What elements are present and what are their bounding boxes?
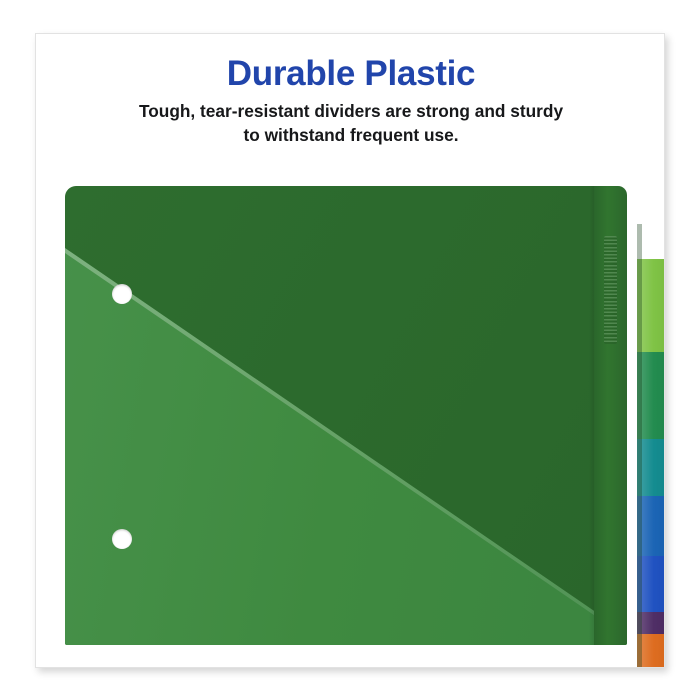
- tab-green-sheen: [637, 352, 665, 439]
- tab-light-green: [637, 259, 665, 352]
- page-title: Durable Plastic: [36, 56, 665, 93]
- tab-purple-sheen: [637, 612, 665, 634]
- tab-orange: [637, 634, 665, 668]
- product-card: Durable Plastic Tough, tear-resistant di…: [35, 33, 665, 668]
- product-description: Tough, tear-resistant dividers are stron…: [60, 100, 642, 148]
- tab-royal-blue-sheen: [637, 556, 665, 612]
- tab-green: [637, 352, 665, 439]
- tab-purple: [637, 612, 665, 634]
- tab-royal-blue: [637, 556, 665, 612]
- plastic-divider-sheet: [65, 186, 637, 645]
- grip-ridges-texture: [604, 236, 617, 344]
- index-tab-stack: [637, 224, 665, 668]
- tab-teal: [637, 439, 665, 496]
- tab-blue: [637, 496, 665, 556]
- tab-orange-sheen: [637, 634, 665, 668]
- tab-blue-sheen: [637, 496, 665, 556]
- description-line-1: Tough, tear-resistant dividers are stron…: [60, 100, 642, 124]
- description-line-2: to withstand frequent use.: [60, 124, 642, 148]
- product-image-canvas: Durable Plastic Tough, tear-resistant di…: [0, 0, 700, 700]
- tab-light-green-sheen: [637, 259, 665, 352]
- binder-hole-bottom: [112, 529, 132, 549]
- binder-hole-top: [112, 284, 132, 304]
- tab-teal-sheen: [637, 439, 665, 496]
